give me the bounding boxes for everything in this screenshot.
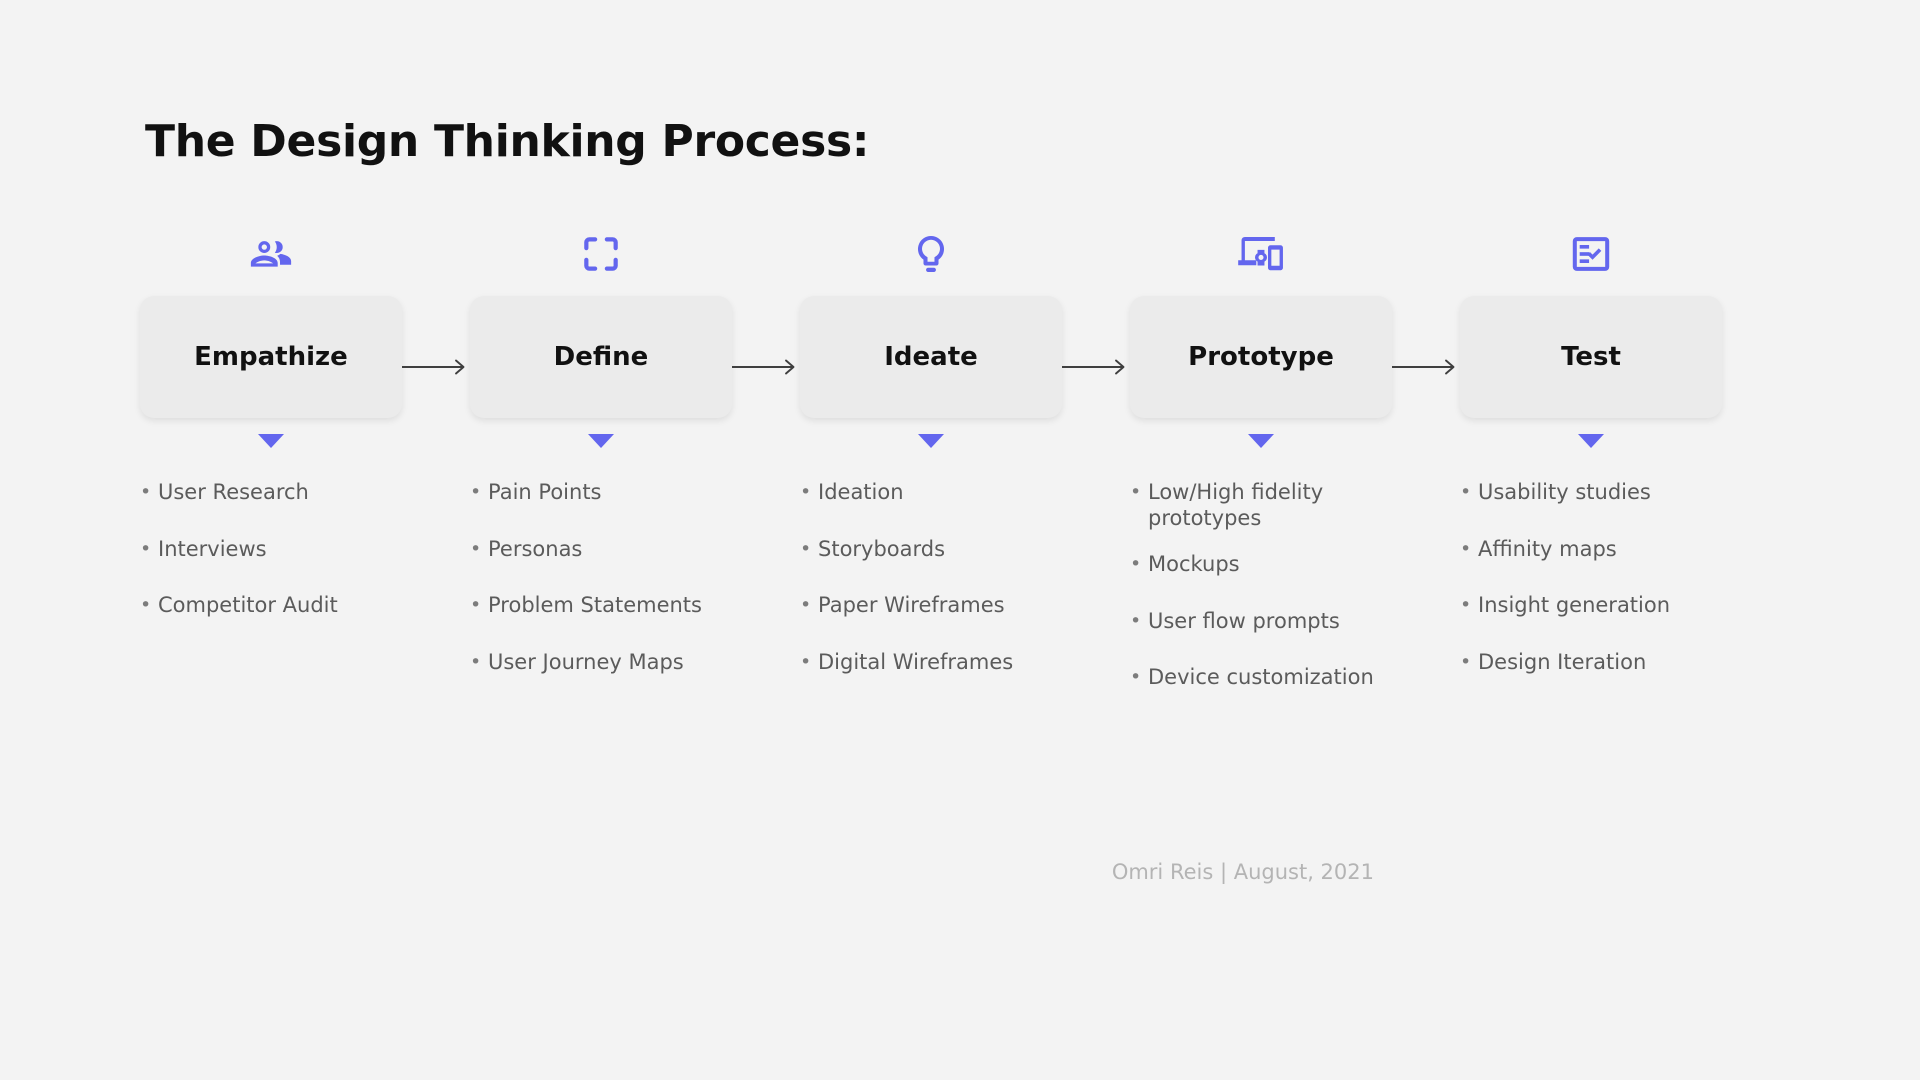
stage-card-label: Prototype <box>1188 344 1334 370</box>
checklist-icon <box>1460 226 1722 282</box>
stage-card-label: Define <box>554 344 649 370</box>
credit-line: Omri Reis | August, 2021 <box>1112 860 1374 884</box>
process-stages: Empathize•User Research•Interviews•Compe… <box>140 226 1790 722</box>
triangle-down-icon <box>470 418 732 464</box>
arrow-right-icon <box>732 357 800 377</box>
list-item-label: Personas <box>488 537 748 563</box>
list-item-label: User Research <box>158 480 418 506</box>
list-item: •Storyboards <box>800 537 1100 563</box>
stage-column-define: Define•Pain Points•Personas•Problem Stat… <box>470 226 800 706</box>
bullet-dot-icon: • <box>470 537 488 561</box>
stage-bullet-list: •Usability studies•Affinity maps•Insight… <box>1460 480 1760 706</box>
stage-card-test[interactable]: Test <box>1460 296 1722 418</box>
triangle-shape <box>588 434 614 448</box>
bullet-dot-icon: • <box>1460 480 1478 504</box>
list-item-label: Problem Statements <box>488 593 748 619</box>
list-item: •Device customization <box>1130 665 1430 691</box>
bullet-dot-icon: • <box>470 650 488 674</box>
list-item: •User Research <box>140 480 440 506</box>
triangle-down-icon <box>800 418 1062 464</box>
list-item: •User flow prompts <box>1130 609 1430 635</box>
bullet-dot-icon: • <box>140 537 158 561</box>
stage-column-prototype: Prototype•Low/High fidelity prototypes•M… <box>1130 226 1460 722</box>
list-item: •Insight generation <box>1460 593 1760 619</box>
stage-card-label: Empathize <box>194 344 348 370</box>
list-item: •Affinity maps <box>1460 537 1760 563</box>
stage-column-empathize: Empathize•User Research•Interviews•Compe… <box>140 226 470 650</box>
triangle-shape <box>258 434 284 448</box>
stage-card-ideate[interactable]: Ideate <box>800 296 1062 418</box>
page-title: The Design Thinking Process: <box>145 116 869 167</box>
bullet-dot-icon: • <box>800 650 818 674</box>
bullet-dot-icon: • <box>1130 480 1148 504</box>
list-item-label: User flow prompts <box>1148 609 1408 635</box>
list-item-label: Affinity maps <box>1478 537 1738 563</box>
list-item-label: Storyboards <box>818 537 1078 563</box>
list-item: •Pain Points <box>470 480 770 506</box>
stage-column-test: Test•Usability studies•Affinity maps•Ins… <box>1460 226 1790 706</box>
list-item: •Usability studies <box>1460 480 1760 506</box>
triangle-down-icon <box>140 418 402 464</box>
list-item-label: Interviews <box>158 537 418 563</box>
crop-frame-icon <box>470 226 732 282</box>
list-item: •Mockups <box>1130 552 1430 578</box>
bullet-dot-icon: • <box>800 480 818 504</box>
list-item: •Interviews <box>140 537 440 563</box>
list-item-label: Ideation <box>818 480 1078 506</box>
stage-card-prototype[interactable]: Prototype <box>1130 296 1392 418</box>
list-item: •Low/High fidelity prototypes <box>1130 480 1430 531</box>
list-item-label: Pain Points <box>488 480 748 506</box>
bullet-dot-icon: • <box>800 593 818 617</box>
stage-bullet-list: •Ideation•Storyboards•Paper Wireframes•D… <box>800 480 1100 706</box>
list-item-label: User Journey Maps <box>488 650 748 676</box>
triangle-shape <box>918 434 944 448</box>
devices-icon <box>1130 226 1392 282</box>
list-item: •User Journey Maps <box>470 650 770 676</box>
bullet-dot-icon: • <box>1130 552 1148 576</box>
bullet-dot-icon: • <box>140 593 158 617</box>
bullet-dot-icon: • <box>1460 537 1478 561</box>
list-item-label: Digital Wireframes <box>818 650 1078 676</box>
list-item: •Paper Wireframes <box>800 593 1100 619</box>
bullet-dot-icon: • <box>470 480 488 504</box>
list-item-label: Mockups <box>1148 552 1408 578</box>
bullet-dot-icon: • <box>140 480 158 504</box>
bullet-dot-icon: • <box>1460 650 1478 674</box>
list-item: •Problem Statements <box>470 593 770 619</box>
bullet-dot-icon: • <box>470 593 488 617</box>
list-item-label: Competitor Audit <box>158 593 418 619</box>
list-item-label: Low/High fidelity prototypes <box>1148 480 1328 531</box>
stage-card-label: Ideate <box>884 344 978 370</box>
bullet-dot-icon: • <box>1130 609 1148 633</box>
stage-bullet-list: •Pain Points•Personas•Problem Statements… <box>470 480 770 706</box>
list-item-label: Usability studies <box>1478 480 1738 506</box>
triangle-shape <box>1248 434 1274 448</box>
bullet-dot-icon: • <box>1460 593 1478 617</box>
arrow-right-icon <box>1062 357 1130 377</box>
triangle-down-icon <box>1130 418 1392 464</box>
stage-bullet-list: •User Research•Interviews•Competitor Aud… <box>140 480 440 650</box>
stage-bullet-list: •Low/High fidelity prototypes•Mockups•Us… <box>1130 480 1430 722</box>
bullet-dot-icon: • <box>1130 665 1148 689</box>
stage-card-empathize[interactable]: Empathize <box>140 296 402 418</box>
triangle-down-icon <box>1460 418 1722 464</box>
list-item-label: Device customization <box>1148 665 1408 691</box>
stage-card-define[interactable]: Define <box>470 296 732 418</box>
people-group-icon <box>140 226 402 282</box>
list-item-label: Design Iteration <box>1478 650 1738 676</box>
arrow-right-icon <box>402 357 470 377</box>
list-item: •Personas <box>470 537 770 563</box>
triangle-shape <box>1578 434 1604 448</box>
list-item: •Design Iteration <box>1460 650 1760 676</box>
list-item: •Digital Wireframes <box>800 650 1100 676</box>
list-item-label: Paper Wireframes <box>818 593 1078 619</box>
arrow-right-icon <box>1392 357 1460 377</box>
bullet-dot-icon: • <box>800 537 818 561</box>
list-item: •Competitor Audit <box>140 593 440 619</box>
stage-card-label: Test <box>1561 344 1621 370</box>
list-item-label: Insight generation <box>1478 593 1738 619</box>
stage-column-ideate: Ideate•Ideation•Storyboards•Paper Wirefr… <box>800 226 1130 706</box>
lightbulb-icon <box>800 226 1062 282</box>
list-item: •Ideation <box>800 480 1100 506</box>
